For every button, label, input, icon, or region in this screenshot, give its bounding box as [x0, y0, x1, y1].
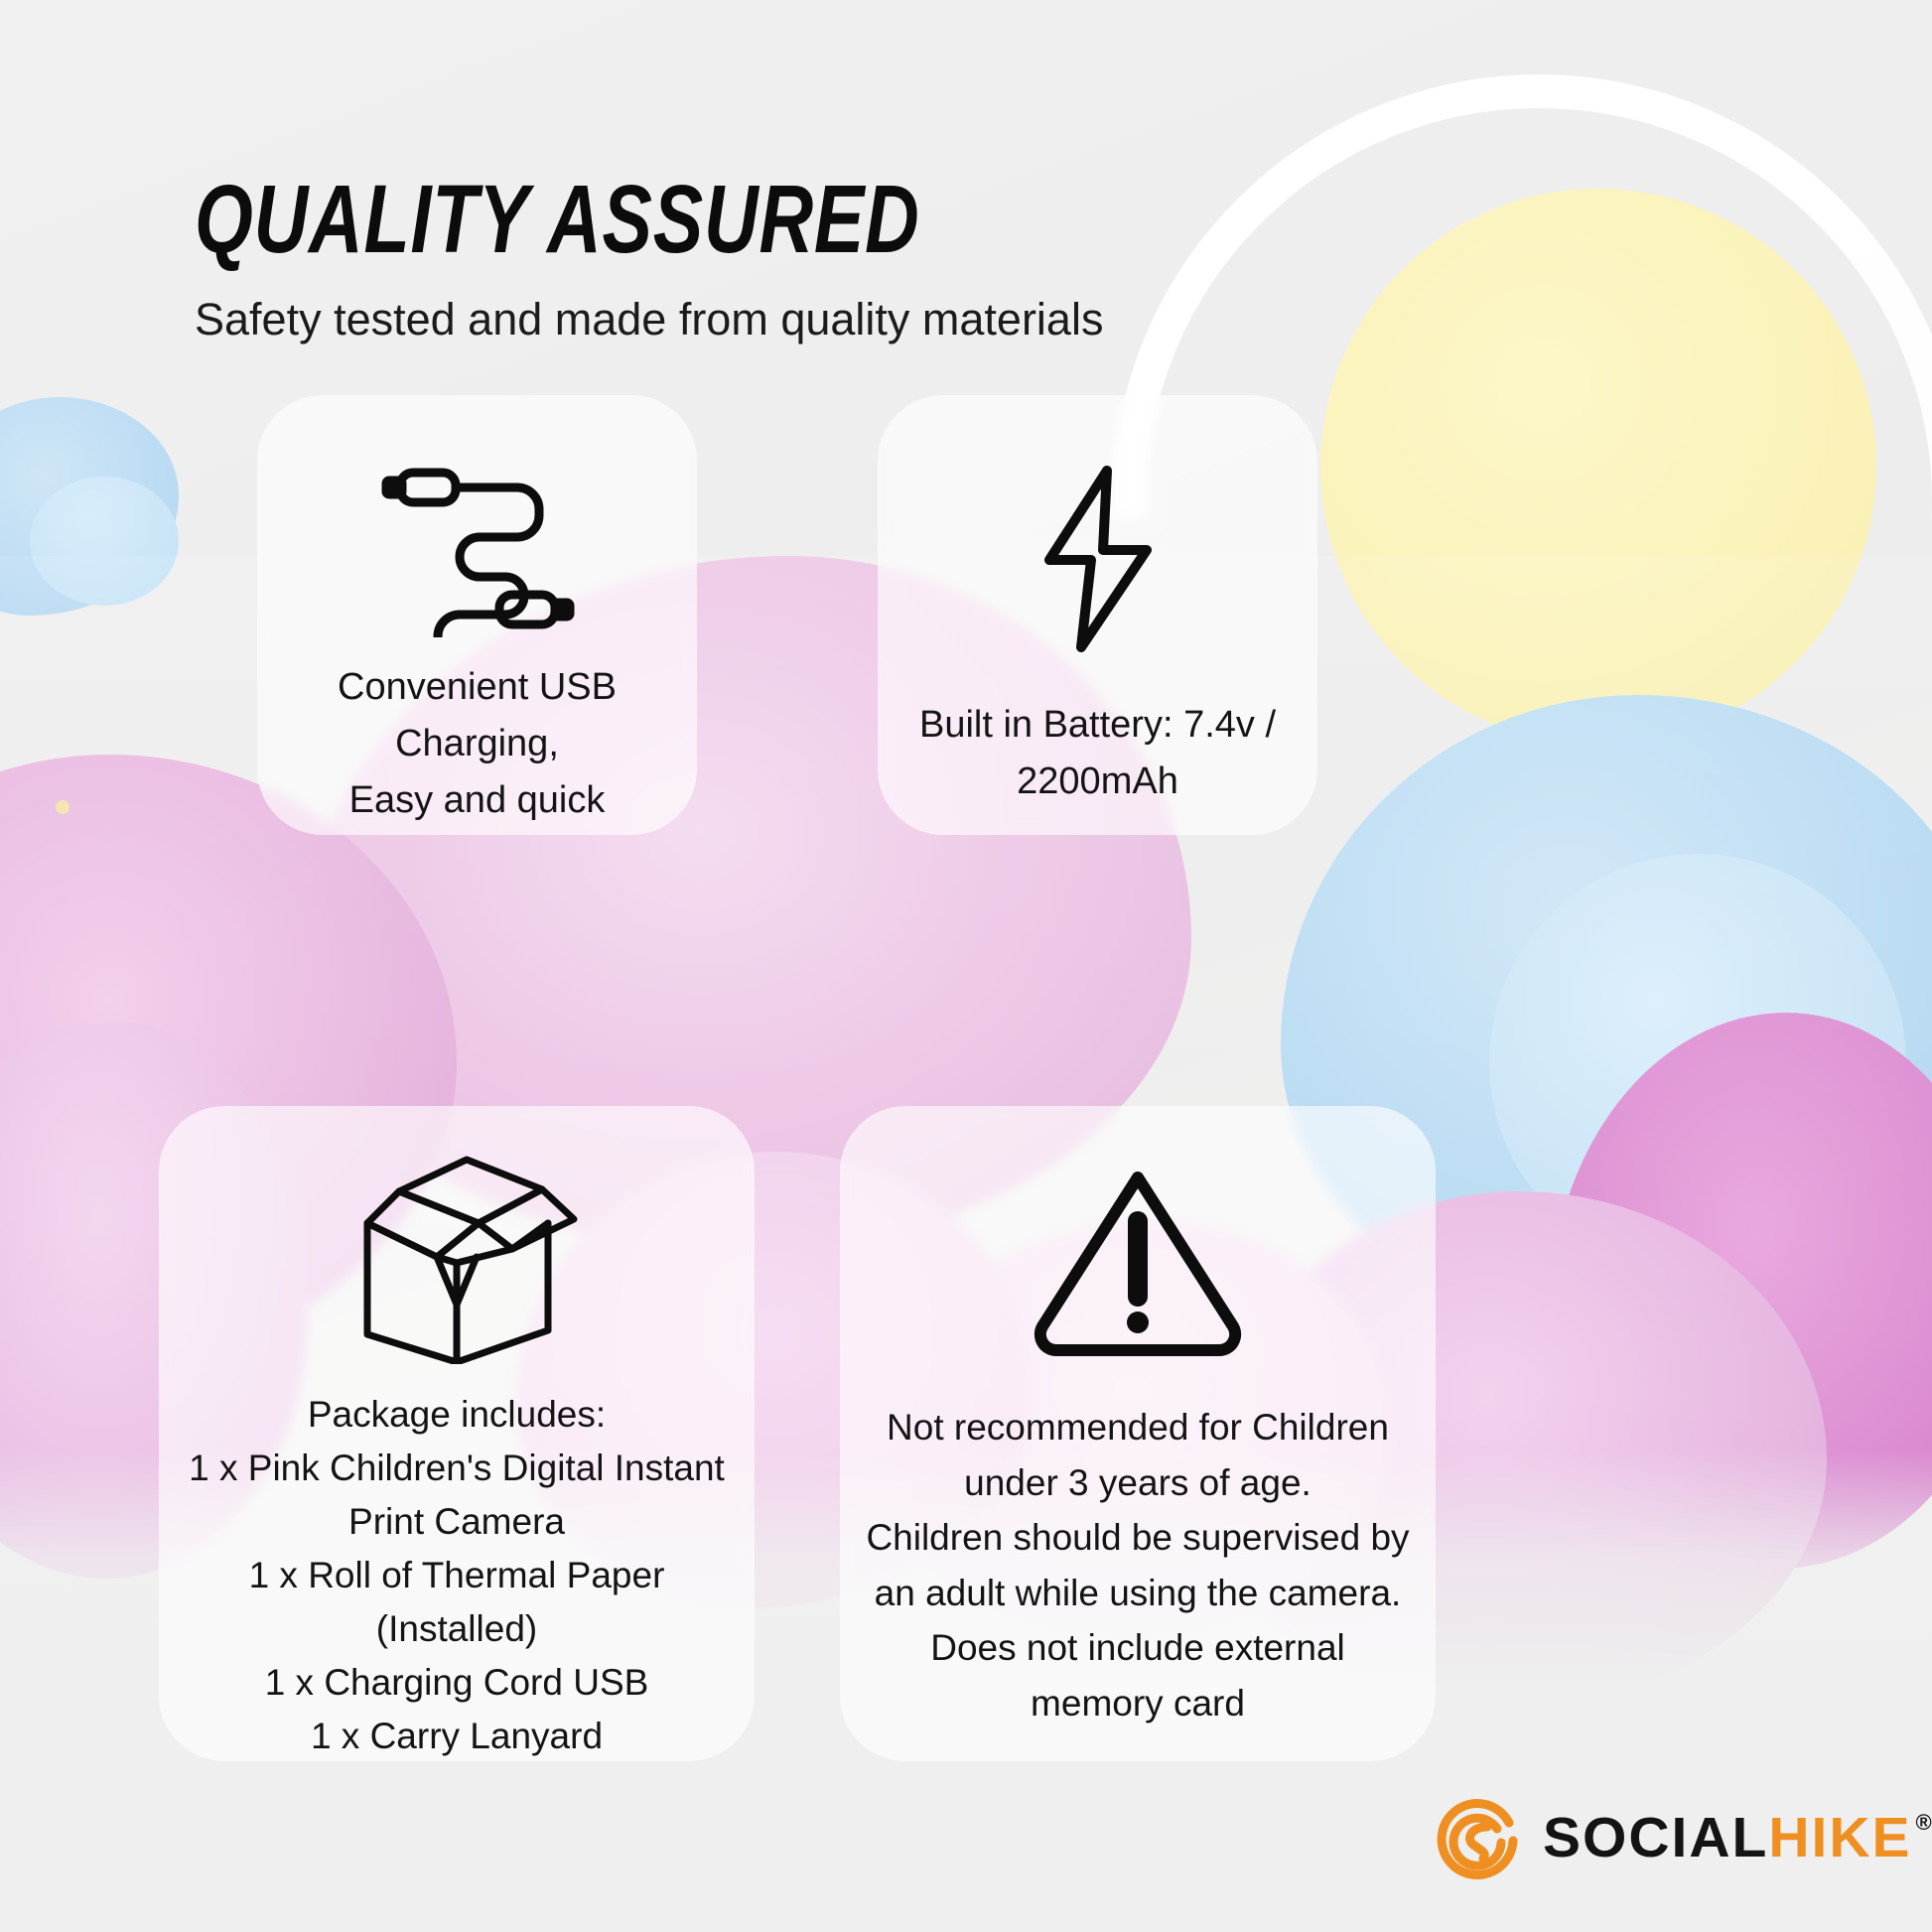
feature-card-usb-charging-text: Convenient USB Charging, Easy and quick … — [257, 659, 697, 835]
feature-card-battery-text: Built in Battery: 7.4v / 2200mAh — [894, 697, 1302, 810]
blue-blob-right-small — [1489, 854, 1906, 1271]
brand-logo-primary: SOCIAL — [1543, 1810, 1768, 1866]
blue-blob-top-left — [0, 397, 179, 616]
brand-logo-secondary: HIKE — [1768, 1810, 1911, 1866]
page-subtitle: Safety tested and made from quality mate… — [195, 293, 1125, 346]
brand-logo-text: SOCIALHIKE® — [1543, 1810, 1932, 1866]
blue-blob-top-left-small — [30, 477, 179, 606]
magenta-blob-right — [1549, 1013, 1932, 1569]
open-box-icon — [328, 1146, 586, 1364]
socialhike-spiral-icon — [1436, 1795, 1521, 1880]
feature-card-package-includes: Package includes: 1 x Pink Children's Di… — [159, 1106, 755, 1761]
page-title: QUALITY ASSURED — [195, 171, 920, 267]
feature-card-battery: Built in Battery: 7.4v / 2200mAh — [878, 395, 1317, 835]
feature-card-warning: Not recommended for Children under 3 yea… — [840, 1106, 1436, 1761]
feature-card-package-includes-text: Package includes: 1 x Pink Children's Di… — [159, 1388, 755, 1761]
warning-triangle-icon — [1029, 1160, 1247, 1358]
yellow-sun-blob — [1320, 189, 1876, 745]
feature-card-usb-charging: Convenient USB Charging, Easy and quick … — [257, 395, 697, 835]
feature-card-warning-text: Not recommended for Children under 3 yea… — [840, 1400, 1435, 1730]
registered-trademark-icon: ® — [1916, 1812, 1932, 1834]
lightning-bolt-icon — [1034, 465, 1163, 653]
header: QUALITY ASSURED Safety tested and made f… — [195, 171, 1125, 346]
usb-cable-icon — [378, 459, 577, 637]
yellow-dot-accent — [56, 800, 69, 814]
infographic-canvas: QUALITY ASSURED Safety tested and made f… — [0, 0, 1932, 1932]
brand-logo: SOCIALHIKE® — [1436, 1795, 1932, 1880]
